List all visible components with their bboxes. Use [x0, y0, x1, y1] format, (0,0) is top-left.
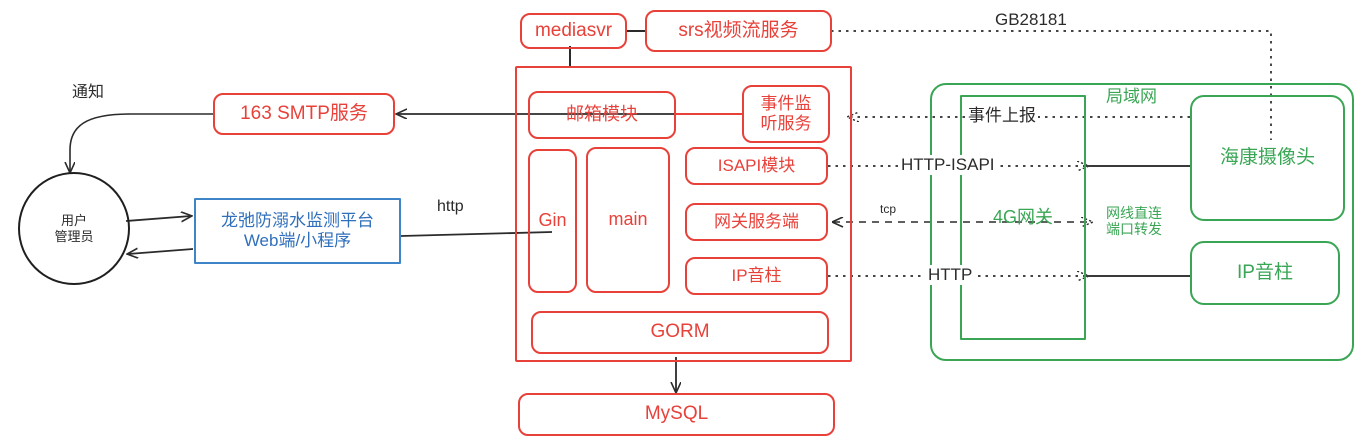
mysql-node[interactable]: MySQL — [518, 393, 835, 436]
gin-node[interactable]: Gin — [528, 149, 577, 293]
mail-module-node[interactable]: 邮箱模块 — [528, 91, 676, 139]
server-ip-speaker-node[interactable]: IP音柱 — [685, 257, 828, 295]
direct-link-note: 网线直连 端口转发 — [1106, 205, 1162, 237]
architecture-diagram-canvas: 用户 管理员 通知 163 SMTP服务 龙弛防溺水监测平台 Web端/小程序 … — [0, 0, 1363, 447]
label-gb28181: GB28181 — [995, 10, 1067, 30]
event-listener-service-node[interactable]: 事件监 听服务 — [742, 85, 830, 143]
label-http-plain: HTTP — [925, 265, 975, 285]
label-notify: 通知 — [72, 84, 104, 102]
edge-user-to-web — [126, 216, 191, 221]
srs-stream-service-node[interactable]: srs视频流服务 — [645, 10, 832, 52]
label-event-report: 事件上报 — [966, 106, 1038, 126]
label-http: http — [437, 198, 464, 216]
gateway-server-node[interactable]: 网关服务端 — [685, 203, 828, 241]
web-client-node[interactable]: 龙弛防溺水监测平台 Web端/小程序 — [194, 198, 401, 264]
gorm-node[interactable]: GORM — [531, 311, 829, 354]
edge-notify — [70, 114, 213, 172]
main-node[interactable]: main — [586, 147, 670, 293]
smtp-service-node[interactable]: 163 SMTP服务 — [213, 93, 395, 135]
gateway-4g-node[interactable]: 4G网关 — [960, 95, 1086, 340]
hikvision-camera-node[interactable]: 海康摄像头 — [1190, 95, 1345, 221]
lan-ip-speaker-node[interactable]: IP音柱 — [1190, 241, 1340, 305]
lan-title: 局域网 — [1106, 87, 1157, 107]
isapi-module-node[interactable]: ISAPI模块 — [685, 147, 828, 185]
user-admin-actor[interactable]: 用户 管理员 — [18, 172, 130, 285]
edge-web-to-user — [128, 249, 193, 254]
label-tcp: tcp — [878, 203, 898, 217]
label-http-isapi: HTTP-ISAPI — [898, 155, 998, 175]
mediasvr-node[interactable]: mediasvr — [520, 13, 627, 49]
